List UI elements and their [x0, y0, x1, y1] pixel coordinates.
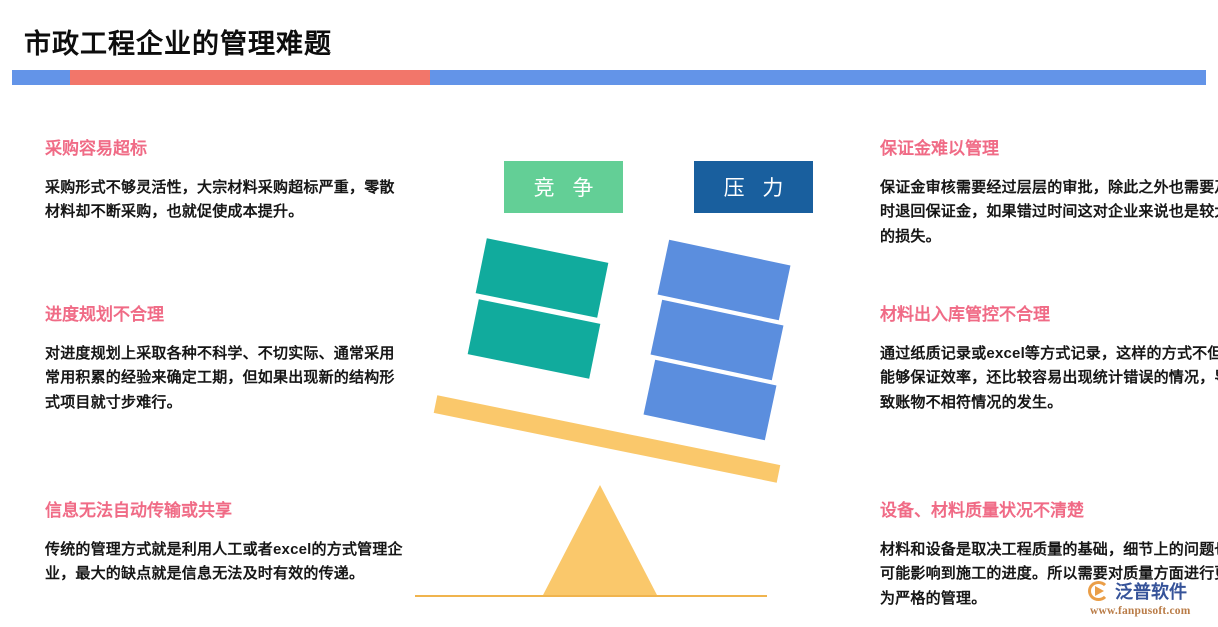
left-column: 采购容易超标 采购形式不够灵活性，大宗材料采购超标严重，零散材料却不断采购，也就…: [45, 138, 405, 587]
tag-competition: 竞 争: [504, 161, 623, 213]
issue-heading: 设备、材料质量状况不清楚: [880, 500, 1218, 522]
divider-segment-blue-left: [12, 70, 70, 85]
issue-heading: 材料出入库管控不合理: [880, 304, 1218, 326]
tag-pressure: 压 力: [694, 161, 813, 213]
issue-block: 保证金难以管理 保证金审核需要经过层层的审批，除此之外也需要及时退回保证金，如果…: [880, 138, 1218, 288]
issue-block: 材料出入库管控不合理 通过纸质记录或excel等方式记录，这样的方式不但不能够保…: [880, 304, 1218, 484]
slide-canvas: 市政工程企业的管理难题 采购容易超标 采购形式不够灵活性，大宗材料采购超标严重，…: [0, 0, 1218, 627]
watermark-brand: 泛普软件: [1115, 578, 1187, 604]
issue-heading: 采购容易超标: [45, 138, 405, 160]
issue-heading: 进度规划不合理: [45, 304, 405, 326]
right-column: 保证金难以管理 保证金审核需要经过层层的审批，除此之外也需要及时退回保证金，如果…: [880, 138, 1218, 611]
issue-body: 对进度规划上采取各种不科学、不切实际、通常采用常用积累的经验来确定工期，但如果出…: [45, 342, 405, 415]
issue-body: 通过纸质记录或excel等方式记录，这样的方式不但不能够保证效率，还比较容易出现…: [880, 342, 1218, 415]
ground-line: [415, 595, 767, 597]
issue-block: 信息无法自动传输或共享 传统的管理方式就是利用人工或者excel的方式管理企业，…: [45, 500, 405, 587]
title-divider-bar: [12, 70, 1206, 85]
divider-segment-blue-right: [430, 70, 1206, 85]
issue-block: 进度规划不合理 对进度规划上采取各种不科学、不切实际、通常采用常用积累的经验来确…: [45, 304, 405, 484]
seesaw-fulcrum: [542, 485, 658, 597]
watermark-url: www.fanpusoft.com: [1090, 605, 1212, 617]
issue-heading: 信息无法自动传输或共享: [45, 500, 405, 522]
issue-block: 采购容易超标 采购形式不够灵活性，大宗材料采购超标严重，零散材料却不断采购，也就…: [45, 138, 405, 288]
issue-heading: 保证金难以管理: [880, 138, 1218, 160]
issue-body: 传统的管理方式就是利用人工或者excel的方式管理企业，最大的缺点就是信息无法及…: [45, 538, 405, 587]
watermark: 泛普软件 www.fanpusoft.com: [1088, 578, 1212, 624]
divider-segment-red: [70, 70, 430, 85]
issue-body: 保证金审核需要经过层层的审批，除此之外也需要及时退回保证金，如果错过时间这对企业…: [880, 176, 1218, 249]
fanpu-logo-icon: [1088, 580, 1112, 602]
issue-body: 采购形式不够灵活性，大宗材料采购超标严重，零散材料却不断采购，也就促使成本提升。: [45, 176, 405, 225]
seesaw-diagram: 竞 争 压 力: [410, 140, 810, 610]
page-title: 市政工程企业的管理难题: [24, 22, 332, 61]
